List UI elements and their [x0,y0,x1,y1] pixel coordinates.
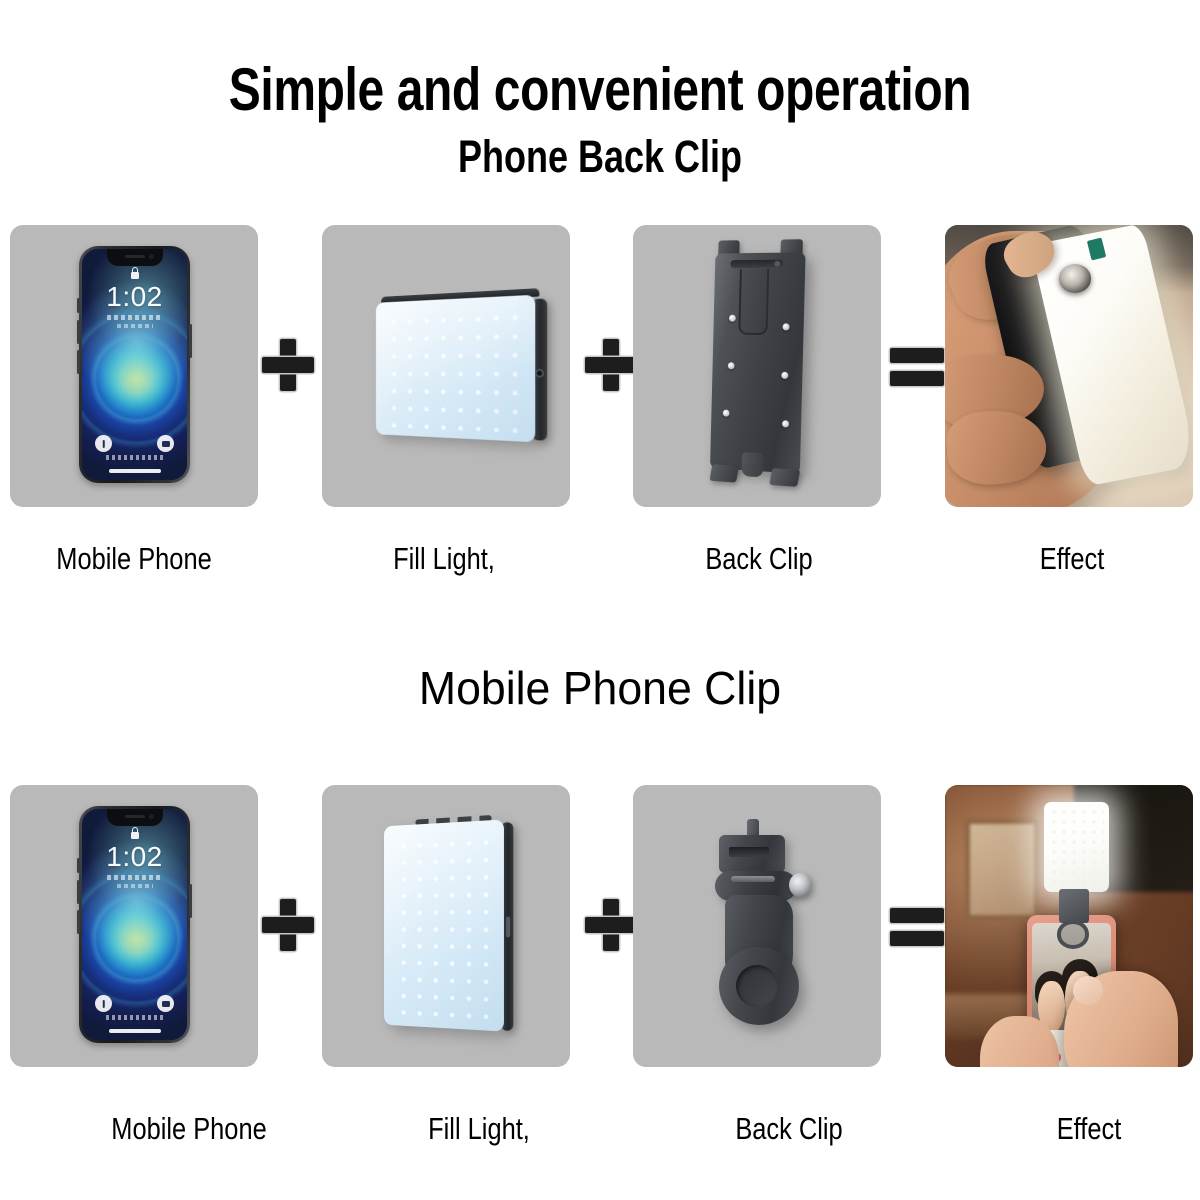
caption-effect: Effect [962,541,1182,577]
fill-light-landscape [376,295,535,443]
lockscreen-date-secondary [117,884,153,888]
light-power-button [506,917,510,938]
phone-mockup: 1:02 [79,806,190,1043]
hinge-bar [731,876,775,882]
tile-fill-light[interactable] [322,785,570,1067]
bracket-bottom-left-tab [709,464,739,482]
equals-icon-bottom-bar [890,371,944,386]
light-sheen [376,295,535,443]
lock-icon [131,832,139,839]
lockscreen-hint-text [106,455,164,460]
caption-mobile-phone: Mobile Phone [79,1111,299,1147]
phone-mute-switch [77,858,80,873]
clip-ring [1057,920,1089,948]
lock-icon [131,272,139,279]
phone-volume-up-button [77,320,80,344]
front-camera-icon [149,814,154,819]
tile-back-clip[interactable] [633,225,881,507]
equals-icon-bottom-bar [890,931,944,946]
phone-mute-switch [77,298,80,313]
light-diffuser [376,295,535,443]
tile-effect-photo[interactable] [945,225,1193,507]
plus-icon-horizontal-bar [262,917,314,933]
earpiece-speaker-icon [125,815,145,818]
caption-fill-light: Fill Light, [334,541,554,577]
clip-knob-icon [1059,264,1091,292]
background-picture-frame [965,819,1039,921]
equals-icon-top-bar [890,348,944,363]
thumb-screw-icon [789,873,811,897]
lockscreen-date [107,315,163,320]
plus-icon-horizontal-bar [262,357,314,373]
fill-light-portrait [384,819,504,1031]
operator-plus-3 [259,896,319,956]
phone-power-button [189,324,192,358]
page-title: Simple and convenient operation [120,58,1080,121]
notch [107,809,163,826]
flashlight-icon[interactable] [95,435,112,452]
section-1-heading: Phone Back Clip [120,133,1080,180]
caption-mobile-phone: Mobile Phone [24,541,244,577]
caption-back-clip: Back Clip [649,541,869,577]
plus-icon-horizontal-bar [585,917,637,933]
camera-icon[interactable] [157,995,174,1012]
bracket-channel [738,269,769,335]
phone-power-button [189,884,192,918]
light-diffuser [384,819,504,1031]
led-grid [1049,807,1103,887]
cold-shoe-slot [729,847,769,857]
phone-lock-screen: 1:02 [82,249,187,480]
tile-mobile-phone[interactable]: 1:02 [10,785,258,1067]
section-2-heading: Mobile Phone Clip [18,664,1182,712]
front-camera-icon [149,254,154,259]
lockscreen-date [107,875,163,880]
operator-equals-1 [888,336,948,396]
lockscreen-date-secondary [117,324,153,328]
operator-equals-2 [888,896,948,956]
effect-photo-selfie [945,785,1193,1067]
caption-back-clip: Back Clip [679,1111,899,1147]
home-indicator[interactable] [109,469,161,473]
operator-plus-1 [259,336,319,396]
notch [107,249,163,266]
light-sheen [384,819,504,1031]
lockscreen-time: 1:02 [82,283,187,311]
lockscreen-time: 1:02 [82,843,187,871]
earpiece-speaker-icon [125,255,145,258]
clip-cold-shoe-mount [719,835,785,873]
clip-mount [1059,889,1089,923]
camera-icon[interactable] [157,435,174,452]
phone-lock-screen: 1:02 [82,809,187,1040]
caption-fill-light: Fill Light, [369,1111,589,1147]
effect-photo-hand-holding-light [945,225,1193,507]
flashlight-icon[interactable] [95,995,112,1012]
usb-port-icon [535,369,544,378]
phone-mockup: 1:02 [79,246,190,483]
phone-volume-up-button [77,880,80,904]
plus-icon-horizontal-bar [585,357,637,373]
bracket-pin [723,410,730,417]
bracket-bottom-right-tab [769,468,800,487]
tile-mobile-phone[interactable]: 1:02 [10,225,258,507]
tile-back-clip[interactable] [633,785,881,1067]
back-clip-bracket [710,252,806,473]
bracket-knob-icon [774,261,780,267]
phone-volume-down-button [77,910,80,934]
clip-jaw [719,947,799,1025]
home-indicator[interactable] [109,1029,161,1033]
phone-spring-clip [713,817,807,1037]
bracket-foot [741,452,763,477]
phone-volume-down-button [77,350,80,374]
lockscreen-hint-text [106,1015,164,1020]
equals-icon-top-bar [890,908,944,923]
bracket-top-slot [730,260,783,268]
bracket-pin [782,420,789,427]
caption-effect: Effect [979,1111,1199,1147]
glowing-light-panel [1044,802,1108,892]
tile-fill-light[interactable] [322,225,570,507]
hand [1064,971,1178,1067]
tile-effect-photo[interactable] [945,785,1193,1067]
